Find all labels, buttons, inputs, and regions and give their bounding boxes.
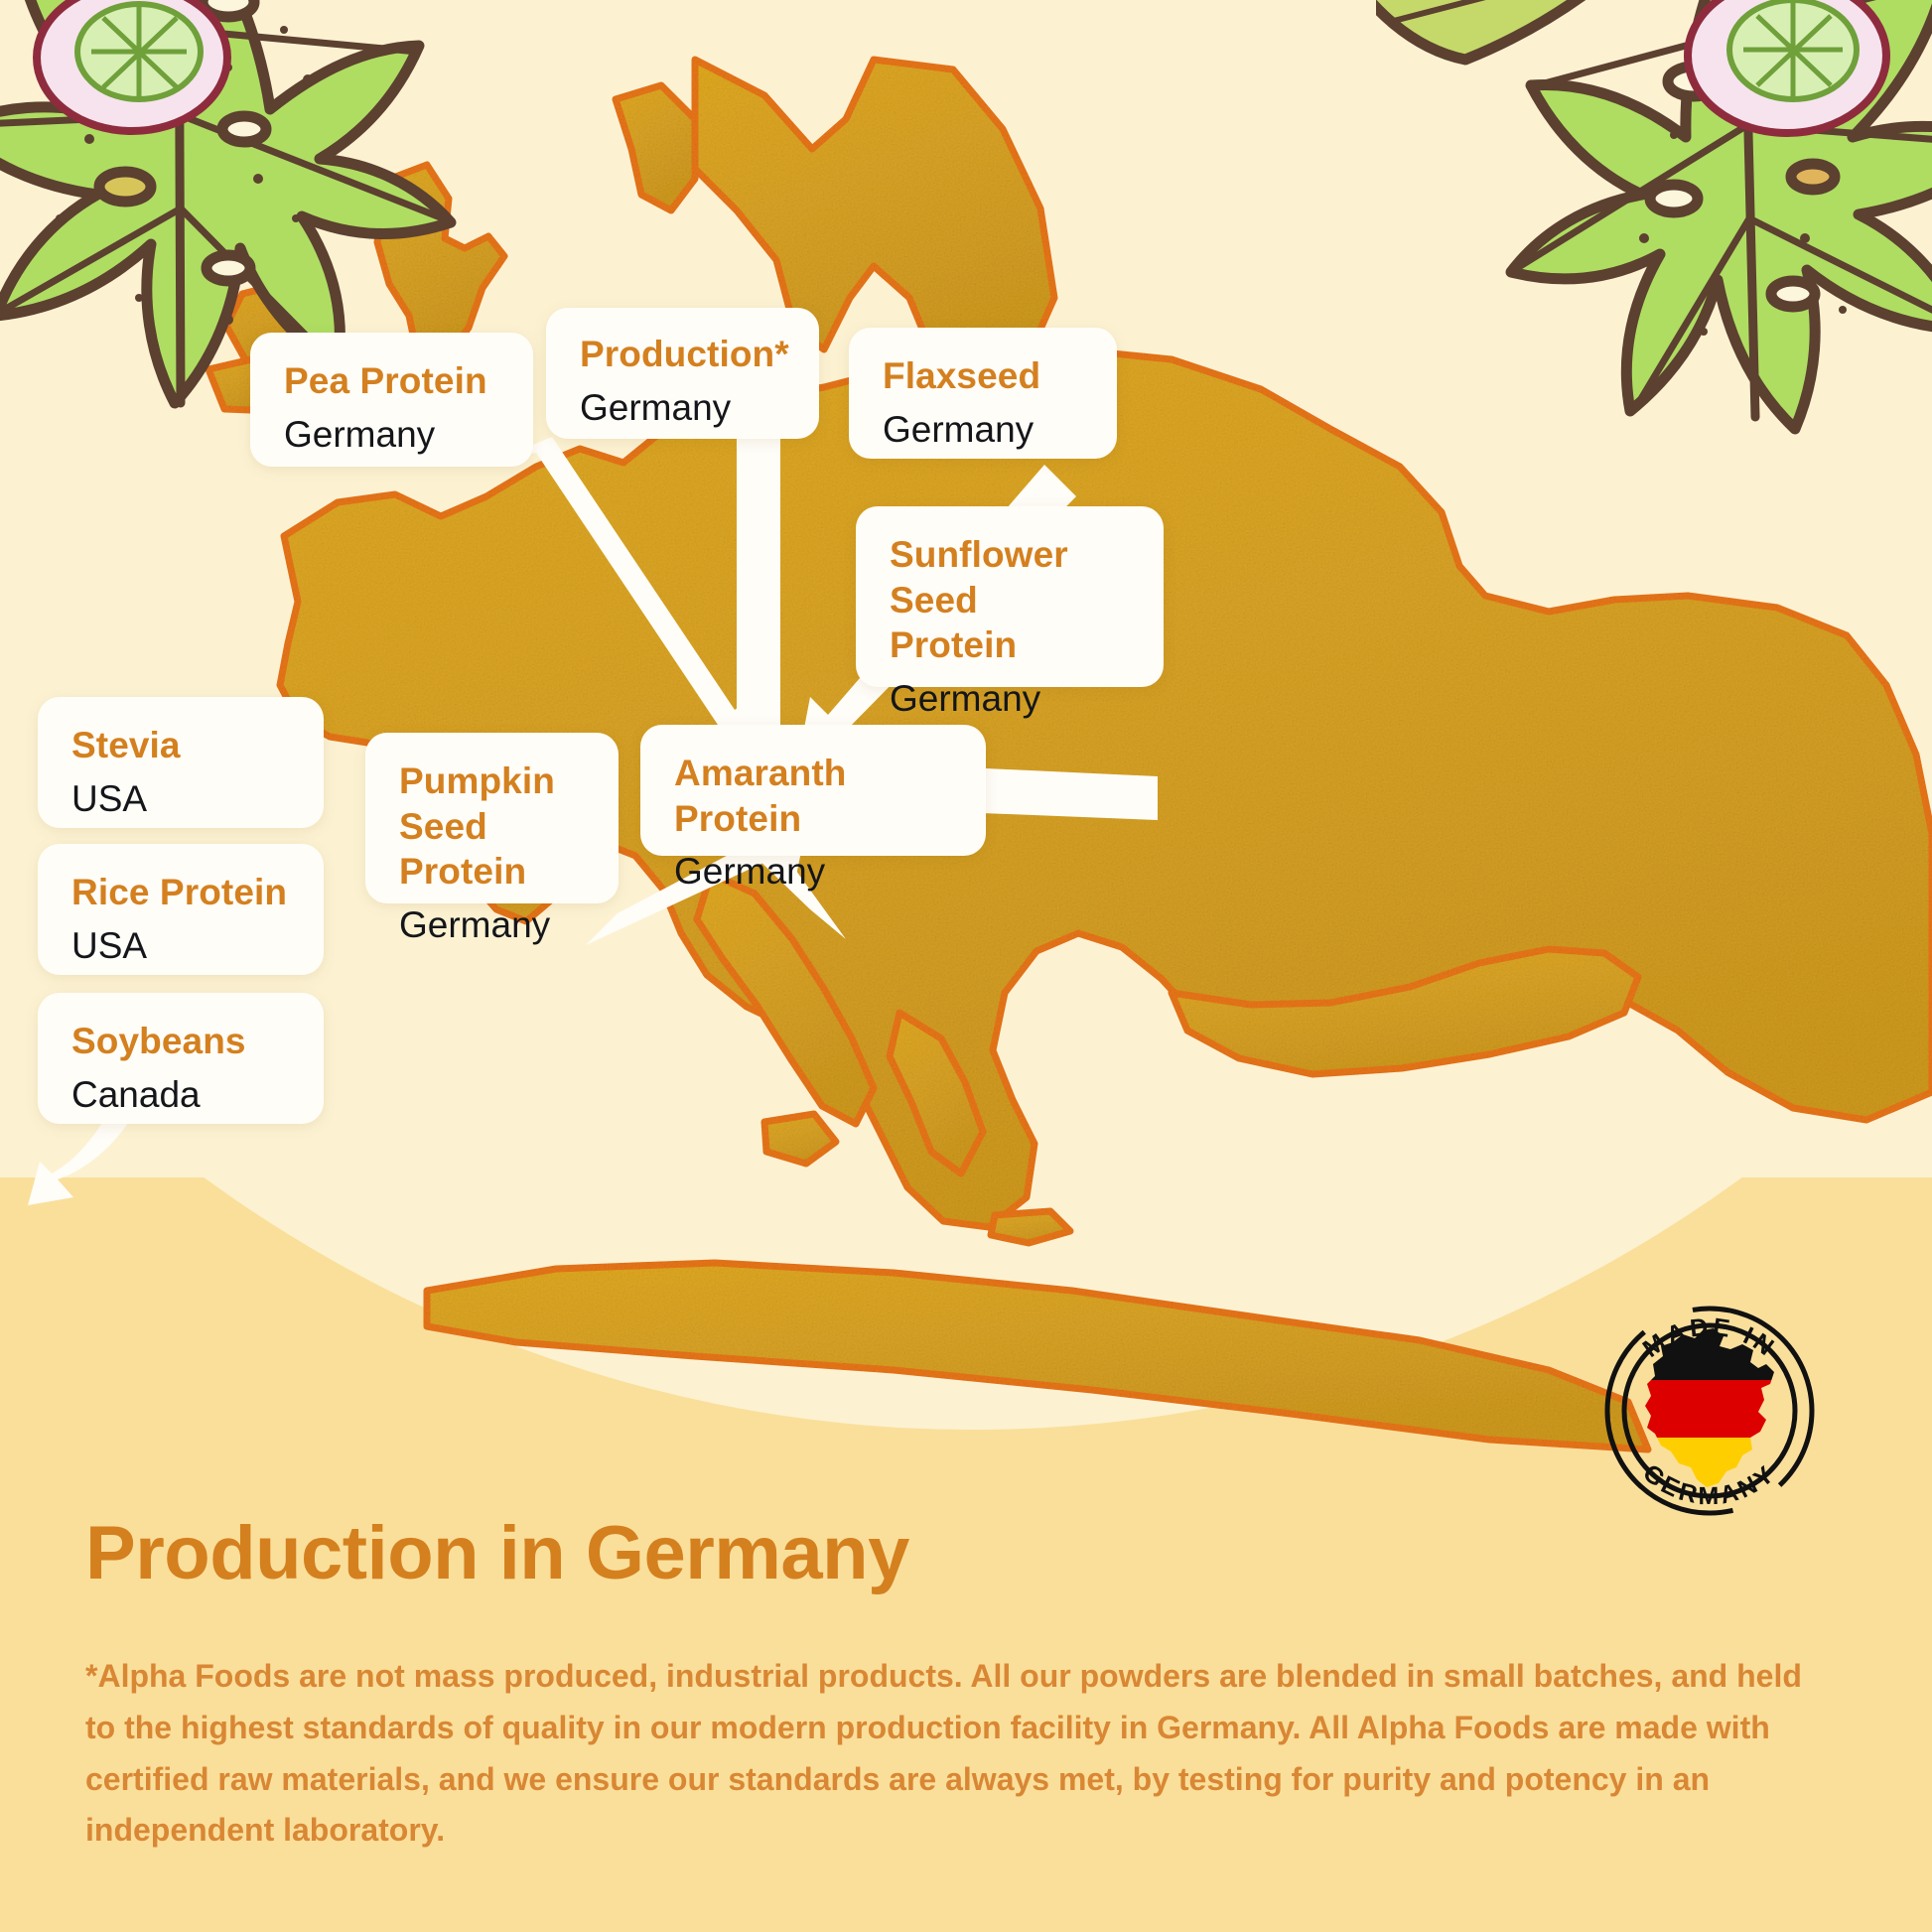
card-pea-protein-country: Germany [284, 413, 499, 457]
card-flaxseed-title: Flaxseed [883, 353, 1083, 399]
card-amaranth-protein-title: Amaranth Protein [674, 751, 952, 841]
card-soybeans-title: Soybeans [71, 1019, 290, 1064]
card-soybeans[interactable]: Soybeans Canada [38, 993, 324, 1124]
card-amaranth-protein[interactable]: Amaranth Protein Germany [640, 725, 986, 856]
card-pumpkin-seed-protein[interactable]: Pumpkin Seed Protein Germany [365, 733, 619, 903]
card-rice-protein-title: Rice Protein [71, 870, 290, 915]
card-rice-protein-country: USA [71, 924, 290, 968]
card-production-country: Germany [580, 386, 785, 430]
card-stevia-title: Stevia [71, 723, 290, 768]
infographic-canvas: Pea Protein Germany Production* Germany … [0, 0, 1932, 1932]
card-flaxseed[interactable]: Flaxseed Germany [849, 328, 1117, 459]
card-pumpkin-seed-protein-title: Pumpkin Seed Protein [399, 759, 585, 895]
card-pea-protein[interactable]: Pea Protein Germany [250, 333, 533, 467]
card-soybeans-country: Canada [71, 1073, 290, 1117]
card-sunflower-seed-protein-country: Germany [890, 677, 1130, 721]
arrow-from-pea-protein [507, 437, 757, 763]
card-flaxseed-country: Germany [883, 408, 1083, 452]
card-pea-protein-title: Pea Protein [284, 358, 499, 404]
card-stevia[interactable]: Stevia USA [38, 697, 324, 828]
card-pumpkin-seed-protein-country: Germany [399, 903, 585, 947]
card-production-title: Production* [580, 332, 785, 377]
page-title: Production in Germany [85, 1516, 909, 1591]
card-sunflower-seed-protein[interactable]: Sunflower Seed Protein Germany [856, 506, 1164, 687]
made-in-germany-seal-icon: MADE IN GERMANY [1591, 1293, 1828, 1529]
card-rice-protein[interactable]: Rice Protein USA [38, 844, 324, 975]
made-in-germany-badge: MADE IN GERMANY [1591, 1293, 1828, 1529]
card-stevia-country: USA [71, 777, 290, 821]
card-sunflower-seed-protein-title: Sunflower Seed Protein [890, 532, 1130, 668]
card-amaranth-protein-country: Germany [674, 850, 952, 894]
card-production[interactable]: Production* Germany [546, 308, 819, 439]
footnote-text: *Alpha Foods are not mass produced, indu… [85, 1651, 1833, 1857]
